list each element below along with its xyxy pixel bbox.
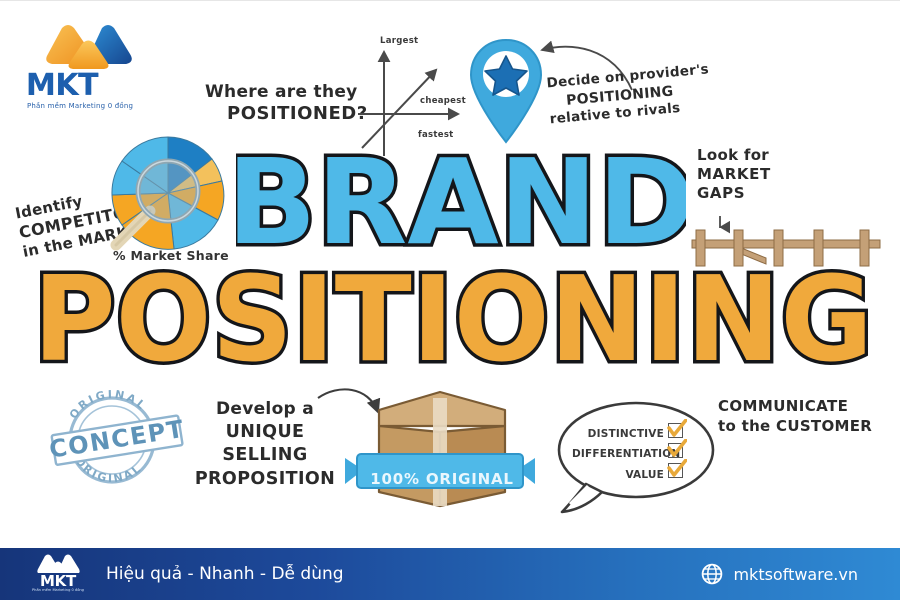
infographic-canvas: MKT Phần mềm Marketing 0 đồng Identify C… <box>0 0 900 600</box>
title-positioning: POSITIONING <box>28 268 878 378</box>
axis-label-fastest: fastest <box>418 130 454 140</box>
check-icon <box>667 459 687 479</box>
checklist-checkboxes[interactable] <box>668 423 683 483</box>
annotation-communicate: COMMUNICATE to the CUSTOMER <box>718 396 872 437</box>
footer-logo: MKT Phần mềm Marketing 0 đồng <box>32 553 84 595</box>
footer-url-text: mktsoftware.vn <box>733 565 858 584</box>
footer-website[interactable]: mktsoftware.vn <box>701 563 858 585</box>
check-icon <box>667 419 687 439</box>
where-line-1: Where are they <box>205 82 368 103</box>
gaps-line-1: Look for <box>697 146 771 165</box>
pie-chart-icon <box>108 133 233 263</box>
title-brand-text: BRAND <box>236 143 686 268</box>
ribbon-label: 100% ORIGINAL <box>362 470 522 488</box>
checkbox-distinctive[interactable] <box>668 423 683 438</box>
globe-icon <box>701 563 723 585</box>
title-positioning-text: POSITIONING <box>33 268 873 378</box>
original-product-box <box>345 388 535 508</box>
market-share-label: % Market Share <box>106 248 236 263</box>
checklist-item-1: DIFFERENTIATION <box>572 444 664 464</box>
mkt-logo-mark <box>30 22 140 74</box>
footer-logo-mark <box>32 553 84 573</box>
communicate-line-2: to the CUSTOMER <box>718 416 872 436</box>
fence-gap-graphic <box>690 214 890 269</box>
checklist-item-2: VALUE <box>572 465 664 485</box>
gaps-line-2: MARKET <box>697 165 771 184</box>
annotation-market-gaps: Look for MARKET GAPS <box>697 146 771 204</box>
stamp-icon: ORIGINAL ORIGINAL CONCEPT <box>45 388 195 488</box>
mkt-logo: MKT Phần mềm Marketing 0 đồng <box>22 22 152 112</box>
footer-logo-tagline: Phần mềm Marketing 0 đồng <box>32 588 84 592</box>
check-icon <box>667 439 687 459</box>
gaps-line-3: GAPS <box>697 184 771 203</box>
market-share-pie-chart <box>108 133 233 263</box>
original-concept-stamp: ORIGINAL ORIGINAL CONCEPT <box>45 388 195 488</box>
mkt-logo-tagline: Phần mềm Marketing 0 đồng <box>27 102 133 110</box>
footer-bar: MKT Phần mềm Marketing 0 đồng Hiệu quả -… <box>0 548 900 600</box>
checklist-labels: DISTINCTIVE DIFFERENTIATION VALUE <box>572 424 664 485</box>
axis-label-largest: Largest <box>380 36 418 46</box>
mkt-logo-word: MKT <box>26 68 98 103</box>
annotation-where-positioned: Where are they POSITIONED? <box>205 82 368 125</box>
box-icon <box>345 388 535 510</box>
communicate-line-1: COMMUNICATE <box>718 396 872 416</box>
fence-icon <box>690 214 890 272</box>
checklist-item-0: DISTINCTIVE <box>572 424 664 444</box>
checkbox-value[interactable] <box>668 463 683 478</box>
positioning-axis-graph: Largest cheapest fastest <box>358 38 478 158</box>
footer-slogan: Hiệu quả - Nhanh - Dễ dùng <box>106 564 344 584</box>
where-line-2: POSITIONED? <box>205 103 368 125</box>
title-brand: BRAND <box>236 143 686 268</box>
usp-line-3: PROPOSITION <box>185 468 345 491</box>
axis-label-cheapest: cheapest <box>420 96 466 106</box>
checkbox-differentiation[interactable] <box>668 443 683 458</box>
top-divider <box>0 0 900 1</box>
title-positioning-art: POSITIONING <box>28 268 878 378</box>
title-brand-art: BRAND <box>236 143 686 268</box>
